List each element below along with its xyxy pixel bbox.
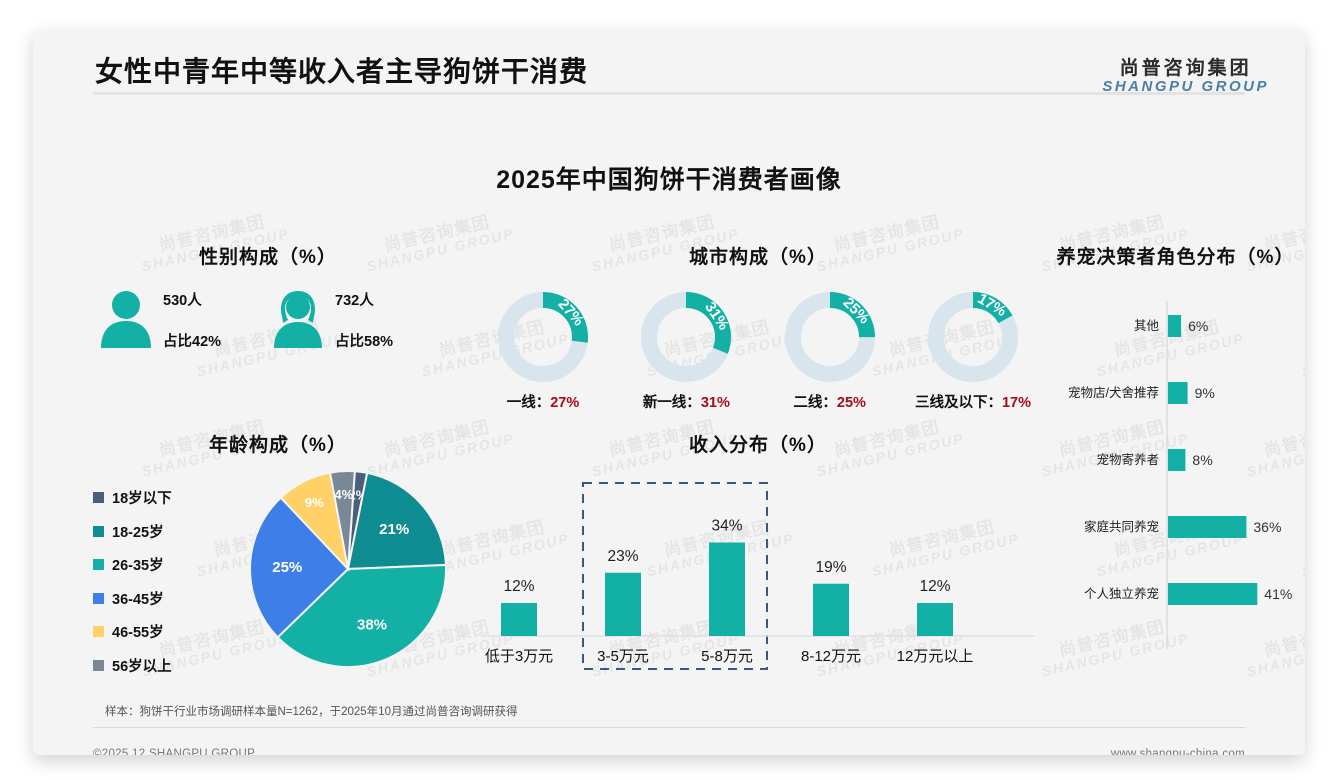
donut-caption-name: 新一线： xyxy=(643,395,701,411)
donut-chart-三线及以下: 17% xyxy=(925,289,1021,385)
decision-bar xyxy=(1168,583,1257,605)
decision-bar xyxy=(1168,315,1181,337)
footer-website: www.shangpu-china.com xyxy=(1111,748,1245,755)
footnote-divider xyxy=(93,727,1245,728)
donut-caption-name: 一线： xyxy=(507,395,551,411)
income-category-label: 5-8万元 xyxy=(701,648,753,665)
pie-slice-label: 4% xyxy=(334,487,353,502)
age-legend-item: 36-45岁 xyxy=(93,588,172,609)
decision-panel-title: 养宠决策者角色分布（%） xyxy=(1043,242,1305,269)
chart-title: 2025年中国狗饼干消费者画像 xyxy=(33,160,1305,196)
decision-category-label: 宠物寄养者 xyxy=(1096,452,1159,467)
donut-caption-value: 31% xyxy=(701,395,730,411)
income-bar-value: 23% xyxy=(607,548,638,565)
age-pie-chart: 2%21%38%25%9%4% xyxy=(248,469,448,674)
gender-female-share: 占比58% xyxy=(335,330,393,351)
gender-panel-title: 性别构成（%） xyxy=(93,242,443,269)
donut-caption: 一线：27% xyxy=(477,391,609,412)
income-bar-value: 34% xyxy=(711,518,742,535)
age-legend-item: 26-35岁 xyxy=(93,554,172,575)
slide-header: 女性中青年中等收入者主导狗饼干消费 尚普咨询集团 SHANGPU GROUP xyxy=(33,30,1305,118)
panel-city-composition: 城市构成（%） 27%一线：27%31%新一线：31%25%二线：25%17%三… xyxy=(473,242,1043,412)
female-person-icon xyxy=(271,290,325,350)
legend-label: 26-35岁 xyxy=(112,554,164,575)
decision-bar-value: 41% xyxy=(1264,586,1292,602)
income-bar xyxy=(501,603,537,636)
decision-bar-value: 6% xyxy=(1188,318,1208,334)
age-pie-wrap: 18岁以下18-25岁26-35岁36-45岁46-55岁56岁以上 2%21%… xyxy=(93,469,463,669)
legend-label: 46-55岁 xyxy=(112,621,164,642)
decision-bar xyxy=(1168,516,1246,538)
footnote: 样本：狗饼干行业市场调研样本量N=1262，于2025年10月通过尚普咨询调研获… xyxy=(93,703,1245,728)
footnote-text: 样本：狗饼干行业市场调研样本量N=1262，于2025年10月通过尚普咨询调研获… xyxy=(93,703,1245,719)
legend-swatch xyxy=(93,593,104,604)
age-pie-legend: 18岁以下18-25岁26-35岁36-45岁46-55岁56岁以上 xyxy=(93,487,172,688)
donut-caption-value: 27% xyxy=(550,395,579,411)
decision-bar-value: 36% xyxy=(1253,519,1281,535)
city-panel-title: 城市构成（%） xyxy=(473,242,1043,269)
decision-bar-value: 8% xyxy=(1192,452,1212,468)
donut-cell: 27%一线：27% xyxy=(477,289,609,412)
decision-hbar-chart: 其他6%宠物店/犬舍推荐9%宠物寄养者8%家庭共同养宠36%个人独立养宠41% xyxy=(1043,291,1305,651)
donut-caption-value: 17% xyxy=(1002,395,1031,411)
donut-caption-value: 25% xyxy=(837,395,866,411)
decision-category-label: 家庭共同养宠 xyxy=(1084,519,1159,534)
decision-category-label: 宠物店/犬舍推荐 xyxy=(1068,385,1159,400)
donut-cell: 25%二线：25% xyxy=(764,289,896,412)
income-bar-value: 19% xyxy=(815,559,846,576)
brand-logo: 尚普咨询集团 SHANGPU GROUP xyxy=(1102,58,1269,96)
slide-card: 尚普咨询集团SHANGPU GROUP尚普咨询集团SHANGPU GROUP尚普… xyxy=(33,30,1305,755)
income-category-label: 8-12万元 xyxy=(801,648,861,665)
decision-bar-value: 9% xyxy=(1195,385,1215,401)
gender-female-text: 732人 占比58% xyxy=(335,289,393,351)
income-panel-title: 收入分布（%） xyxy=(473,430,1043,457)
legend-label: 18-25岁 xyxy=(112,521,164,542)
donut-chart-一线: 27% xyxy=(495,289,591,385)
legend-swatch xyxy=(93,492,104,503)
income-category-label: 12万元以上 xyxy=(897,648,974,665)
age-legend-item: 56岁以上 xyxy=(93,655,172,676)
brand-name-en: SHANGPU GROUP xyxy=(1102,79,1269,96)
age-legend-item: 18-25岁 xyxy=(93,521,172,542)
donut-cell: 31%新一线：31% xyxy=(620,289,752,412)
donut-caption: 三线及以下：17% xyxy=(907,391,1039,412)
income-category-label: 3-5万元 xyxy=(597,648,649,665)
panel-gender-composition: 性别构成（%） 530人 占比42% 732人 xyxy=(93,242,443,351)
panel-income-distribution: 收入分布（%） 12%低于3万元23%3-5万元34%5-8万元19%8-12万… xyxy=(473,430,1043,686)
donut-caption-name: 三线及以下： xyxy=(915,395,1002,411)
gender-female-count: 732人 xyxy=(335,289,393,310)
income-category-label: 低于3万元 xyxy=(485,648,553,665)
panel-age-composition: 年龄构成（%） 18岁以下18-25岁26-35岁36-45岁46-55岁56岁… xyxy=(93,430,463,669)
legend-label: 18岁以下 xyxy=(112,487,172,508)
title-underline xyxy=(93,92,1245,95)
income-bar xyxy=(917,603,953,636)
age-panel-title: 年龄构成（%） xyxy=(93,430,463,457)
legend-label: 36-45岁 xyxy=(112,588,164,609)
gender-male-count: 530人 xyxy=(163,289,221,310)
income-bar-value: 12% xyxy=(919,578,950,595)
legend-swatch xyxy=(93,660,104,671)
donut-cell: 17%三线及以下：17% xyxy=(907,289,1039,412)
legend-swatch xyxy=(93,626,104,637)
decision-bar xyxy=(1168,382,1188,404)
income-bar xyxy=(605,573,641,636)
legend-swatch xyxy=(93,559,104,570)
donut-caption: 二线：25% xyxy=(764,391,896,412)
donut-caption: 新一线：31% xyxy=(620,391,752,412)
footer-copyright: ©2025.12 SHANGPU GROUP xyxy=(93,748,255,755)
legend-label: 56岁以上 xyxy=(112,655,172,676)
age-legend-item: 18岁以下 xyxy=(93,487,172,508)
donut-caption-name: 二线： xyxy=(793,395,837,411)
donut-chart-新一线: 31% xyxy=(638,289,734,385)
gender-row: 530人 占比42% 732人 占比58% xyxy=(93,289,443,351)
brand-name-cn: 尚普咨询集团 xyxy=(1102,58,1269,79)
income-bar xyxy=(813,584,849,636)
gender-male-text: 530人 占比42% xyxy=(163,289,221,351)
gender-item-male: 530人 占比42% xyxy=(99,289,271,351)
age-pie-svg: 2%21%38%25%9%4% xyxy=(248,469,448,669)
donut-chart-二线: 25% xyxy=(782,289,878,385)
decision-hbar-svg: 其他6%宠物店/犬舍推荐9%宠物寄养者8%家庭共同养宠36%个人独立养宠41% xyxy=(1043,291,1305,651)
pie-slice-label: 9% xyxy=(305,495,324,510)
gender-male-share: 占比42% xyxy=(163,330,221,351)
page-title: 女性中青年中等收入者主导狗饼干消费 xyxy=(95,50,588,90)
age-legend-item: 46-55岁 xyxy=(93,621,172,642)
donut-row: 27%一线：27%31%新一线：31%25%二线：25%17%三线及以下：17% xyxy=(473,289,1043,412)
pie-slice-label: 21% xyxy=(379,521,409,538)
income-bar xyxy=(709,543,745,637)
decision-category-label: 个人独立养宠 xyxy=(1084,586,1159,601)
panel-decision-role: 养宠决策者角色分布（%） 其他6%宠物店/犬舍推荐9%宠物寄养者8%家庭共同养宠… xyxy=(1043,242,1305,651)
income-bar-value: 12% xyxy=(503,578,534,595)
income-bar-svg: 12%低于3万元23%3-5万元34%5-8万元19%8-12万元12%12万元… xyxy=(473,471,1043,686)
slide-footer: ©2025.12 SHANGPU GROUP www.shangpu-china… xyxy=(33,736,1305,755)
pie-slice-label: 38% xyxy=(357,616,387,633)
gender-item-female: 732人 占比58% xyxy=(271,289,443,351)
pie-slice-label: 25% xyxy=(272,559,302,576)
income-bar-chart: 12%低于3万元23%3-5万元34%5-8万元19%8-12万元12%12万元… xyxy=(473,471,1043,686)
legend-swatch xyxy=(93,526,104,537)
decision-category-label: 其他 xyxy=(1134,319,1160,333)
decision-bar xyxy=(1168,449,1185,471)
male-person-icon xyxy=(99,290,153,350)
